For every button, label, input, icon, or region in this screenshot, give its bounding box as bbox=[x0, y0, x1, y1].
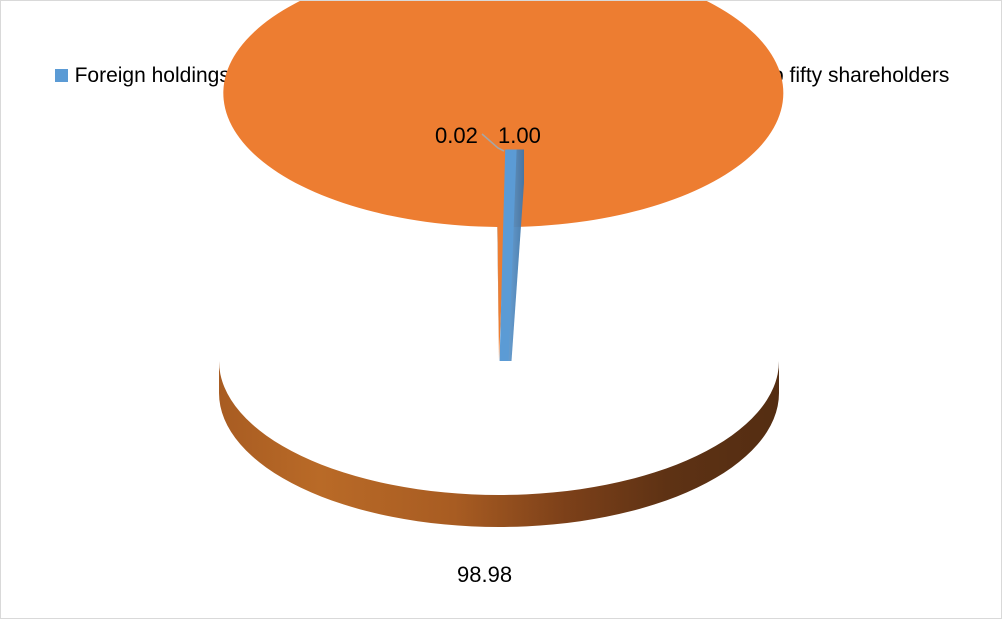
pie-chart-plot-area: 0.02 1.00 98.98 bbox=[1, 1, 1002, 619]
pie-slice-directors-side bbox=[219, 361, 779, 527]
data-label-foreign-holdings: 1.00 bbox=[498, 125, 541, 147]
data-label-other-top-fifty: 0.02 bbox=[435, 125, 478, 147]
chart-container: Shareholding Pattern Foreign holdings Di… bbox=[0, 0, 1002, 619]
pie-chart-svg bbox=[1, 1, 1002, 619]
data-label-directors: 98.98 bbox=[457, 564, 512, 586]
